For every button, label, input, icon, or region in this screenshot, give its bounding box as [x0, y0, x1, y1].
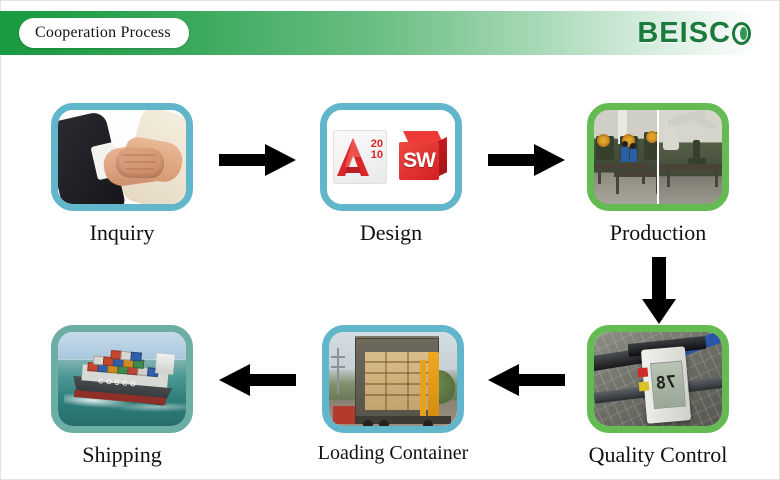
design-label: Design — [306, 220, 476, 246]
step-shipping[interactable]: COSCO Shipping — [37, 325, 207, 468]
step-loading-container[interactable]: Loading Container — [308, 325, 478, 465]
inquiry-thumbnail[interactable] — [51, 103, 193, 211]
handshake-photo — [58, 110, 186, 204]
caliper-reading: 78 — [655, 372, 677, 394]
digital-caliper-photo: 78 — [594, 332, 722, 426]
container-loading-photo — [329, 332, 457, 426]
loading-container-thumbnail[interactable] — [322, 325, 464, 433]
quality-control-label: Quality Control — [573, 442, 743, 468]
leaf-o-icon — [732, 19, 755, 48]
shipping-label: Shipping — [37, 442, 207, 468]
arrow-inquiry-to-design — [219, 143, 297, 177]
cad-software-logos: 20 10 SW — [327, 110, 455, 204]
quality-control-thumbnail[interactable]: 78 — [587, 325, 729, 433]
brand-text: BEISC — [637, 17, 731, 50]
inquiry-label: Inquiry — [37, 220, 207, 246]
container-ship-photo: COSCO — [58, 332, 186, 426]
solidworks-label: SW — [403, 149, 435, 173]
header-title-pill: Cooperation Process — [19, 18, 189, 48]
step-quality-control[interactable]: 78 Quality Control — [573, 325, 743, 468]
arrow-quality-to-loading — [488, 363, 566, 397]
arrow-production-to-quality — [641, 257, 677, 325]
step-inquiry[interactable]: Inquiry — [37, 103, 207, 246]
step-production[interactable]: Production — [573, 103, 743, 246]
autocad-year-bottom: 10 — [371, 150, 383, 161]
autocad-icon: 20 10 — [333, 130, 387, 184]
factory-workshop-photo — [594, 110, 722, 204]
production-thumbnail[interactable] — [587, 103, 729, 211]
header: Cooperation Process BEISC — [1, 11, 769, 55]
company-logo: BEISC — [637, 17, 755, 50]
step-design[interactable]: 20 10 SW Design — [306, 103, 476, 246]
arrow-loading-to-shipping — [219, 363, 297, 397]
process-infographic: Cooperation Process BEISC — [0, 0, 780, 480]
arrow-design-to-production — [488, 143, 566, 177]
production-label: Production — [573, 220, 743, 246]
page-title: Cooperation Process — [35, 24, 171, 42]
shipping-thumbnail[interactable]: COSCO — [51, 325, 193, 433]
design-thumbnail[interactable]: 20 10 SW — [320, 103, 462, 211]
solidworks-icon: SW — [397, 131, 449, 183]
loading-container-label: Loading Container — [308, 442, 478, 465]
